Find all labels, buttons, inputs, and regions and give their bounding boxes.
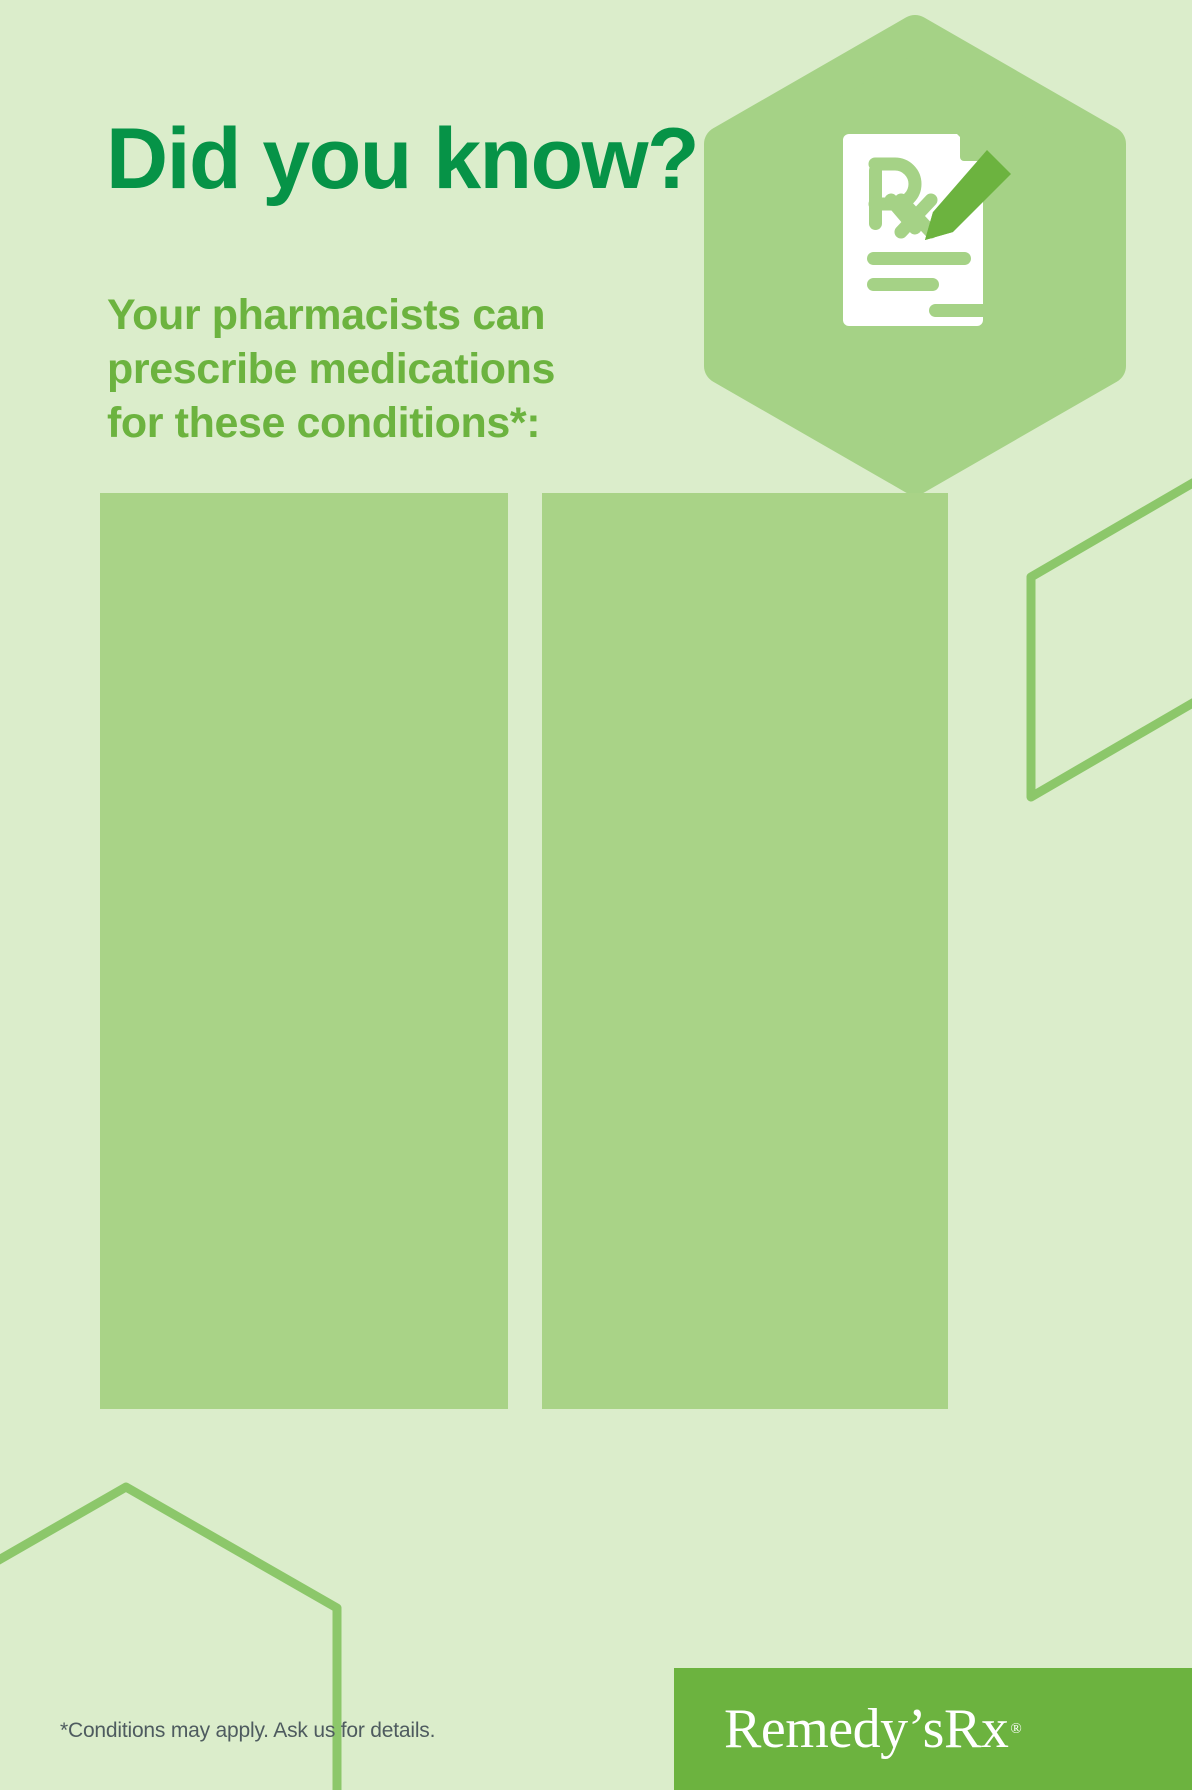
- registered-trademark-symbol: ®: [1010, 1722, 1021, 1737]
- disclaimer-text: *Conditions may apply. Ask us for detail…: [60, 1718, 435, 1743]
- conditions-column-right: [542, 493, 948, 1409]
- document-signature-line: [929, 304, 999, 317]
- hexagon-outline-bottom-left: [0, 1487, 337, 1790]
- subtitle-line-1: Your pharmacists can: [107, 288, 555, 342]
- subtitle-line-2: prescribe medications: [107, 342, 555, 396]
- hexagon-outline-right-edge: [1031, 466, 1192, 797]
- subtitle-block: Your pharmacists can prescribe medicatio…: [107, 288, 555, 450]
- subtitle-line-3: for these conditions*:: [107, 396, 555, 450]
- document-line-2: [867, 278, 939, 291]
- prescription-document-with-pencil-icon: [843, 128, 1019, 330]
- page-title: Did you know?: [106, 116, 698, 202]
- conditions-column-left: [100, 493, 508, 1409]
- rx-letter-r-stem: [869, 164, 882, 230]
- brand-wordmark: Remedy’sRx: [724, 1701, 1008, 1757]
- brand-logo: Remedy’sRx®: [674, 1668, 1192, 1790]
- poster-canvas: Did you know? Your pharmacists can presc…: [0, 0, 1192, 1790]
- document-line-1: [867, 252, 971, 265]
